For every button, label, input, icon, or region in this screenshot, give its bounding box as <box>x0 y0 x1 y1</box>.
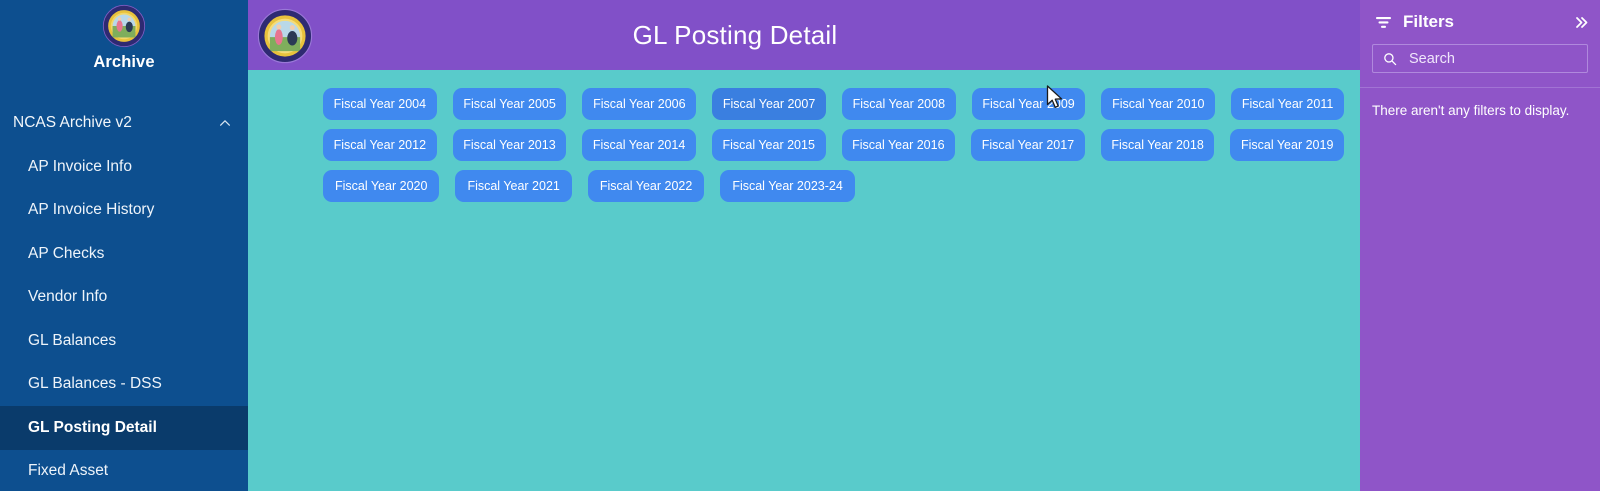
sidebar-item-label: Fixed Asset <box>28 462 108 480</box>
fiscal-year-button-2015[interactable]: Fiscal Year 2015 <box>712 129 826 161</box>
chevron-up-icon <box>218 116 232 130</box>
sidebar-item-ap-checks[interactable]: AP Checks <box>0 232 248 276</box>
sidebar-item-vendor-info[interactable]: Vendor Info <box>0 276 248 320</box>
sidebar-item-label: AP Invoice Info <box>28 158 132 176</box>
fiscal-year-button-2011[interactable]: Fiscal Year 2011 <box>1231 88 1344 120</box>
sidebar-item-gl-balances[interactable]: GL Balances <box>0 319 248 363</box>
fiscal-year-button-2010[interactable]: Fiscal Year 2010 <box>1101 88 1215 120</box>
nav-group-label: NCAS Archive v2 <box>13 114 218 132</box>
fiscal-year-button-2012[interactable]: Fiscal Year 2012 <box>323 129 437 161</box>
fiscal-year-button-2021[interactable]: Fiscal Year 2021 <box>455 170 571 202</box>
fiscal-year-button-2022[interactable]: Fiscal Year 2022 <box>588 170 704 202</box>
report-header: GL Posting Detail <box>248 0 1360 70</box>
fiscal-year-button-2016[interactable]: Fiscal Year 2016 <box>842 129 956 161</box>
app-root: Archive NCAS Archive v2 AP Invoice InfoA… <box>0 0 1600 491</box>
filters-search-box[interactable] <box>1372 44 1588 73</box>
sidebar-nav-list: AP Invoice InfoAP Invoice HistoryAP Chec… <box>0 145 248 491</box>
sidebar-item-ap-invoice-history[interactable]: AP Invoice History <box>0 189 248 233</box>
report-title: GL Posting Detail <box>248 20 1360 51</box>
fiscal-year-button-2004[interactable]: Fiscal Year 2004 <box>323 88 437 120</box>
fiscal-year-button-2008[interactable]: Fiscal Year 2008 <box>842 88 956 120</box>
sidebar-item-ap-invoice-info[interactable]: AP Invoice Info <box>0 145 248 189</box>
sidebar-item-label: GL Balances - DSS <box>28 375 162 393</box>
sidebar-item-fixed-asset[interactable]: Fixed Asset <box>0 450 248 491</box>
filters-header: Filters <box>1360 0 1600 44</box>
search-icon <box>1383 52 1397 66</box>
sidebar-item-label: AP Invoice History <box>28 201 154 219</box>
sidebar: Archive NCAS Archive v2 AP Invoice InfoA… <box>0 0 248 491</box>
fiscal-year-button-2005[interactable]: Fiscal Year 2005 <box>453 88 567 120</box>
sidebar-item-label: GL Posting Detail <box>28 419 157 437</box>
fiscal-year-button-row: Fiscal Year 2020Fiscal Year 2021Fiscal Y… <box>323 170 1360 202</box>
filters-empty-message: There aren't any filters to display. <box>1360 88 1600 120</box>
fiscal-year-button-2007[interactable]: Fiscal Year 2007 <box>712 88 826 120</box>
fiscal-year-button-2019[interactable]: Fiscal Year 2019 <box>1230 129 1344 161</box>
brand-name: Archive <box>0 53 248 72</box>
fiscal-year-button-2013[interactable]: Fiscal Year 2013 <box>453 129 567 161</box>
fiscal-year-button-2018[interactable]: Fiscal Year 2018 <box>1101 129 1215 161</box>
fiscal-year-button-2023-24[interactable]: Fiscal Year 2023-24 <box>720 170 855 202</box>
report-canvas: GL Posting Detail Fiscal Year 2004Fiscal… <box>248 0 1360 491</box>
nc-state-controller-seal-icon <box>102 4 146 48</box>
nav-group-header[interactable]: NCAS Archive v2 <box>0 101 248 145</box>
fiscal-year-button-2017[interactable]: Fiscal Year 2017 <box>971 129 1085 161</box>
chevron-double-right-icon[interactable] <box>1575 15 1588 30</box>
fiscal-year-button-grid: Fiscal Year 2004Fiscal Year 2005Fiscal Y… <box>248 70 1360 202</box>
sidebar-item-label: AP Checks <box>28 245 104 263</box>
fiscal-year-button-2014[interactable]: Fiscal Year 2014 <box>582 129 696 161</box>
sidebar-item-label: Vendor Info <box>28 288 107 306</box>
fiscal-year-button-2020[interactable]: Fiscal Year 2020 <box>323 170 439 202</box>
filters-search-input[interactable] <box>1409 51 1579 67</box>
sidebar-item-gl-posting-detail[interactable]: GL Posting Detail <box>0 406 248 450</box>
sidebar-item-gl-balances-dss[interactable]: GL Balances - DSS <box>0 363 248 407</box>
filter-icon <box>1375 15 1392 30</box>
nc-state-controller-seal-icon <box>257 8 313 64</box>
fiscal-year-button-row: Fiscal Year 2012Fiscal Year 2013Fiscal Y… <box>323 129 1360 161</box>
fiscal-year-button-row: Fiscal Year 2004Fiscal Year 2005Fiscal Y… <box>323 88 1360 120</box>
filters-title: Filters <box>1403 12 1575 32</box>
sidebar-item-label: GL Balances <box>28 332 116 350</box>
filters-pane: Filters There aren't any filters to disp… <box>1360 0 1600 491</box>
fiscal-year-button-2009[interactable]: Fiscal Year 2009 <box>972 88 1086 120</box>
nav-group-ncas-archive: NCAS Archive v2 AP Invoice InfoAP Invoic… <box>0 101 248 491</box>
sidebar-brand: Archive <box>0 0 248 72</box>
fiscal-year-button-2006[interactable]: Fiscal Year 2006 <box>582 88 696 120</box>
